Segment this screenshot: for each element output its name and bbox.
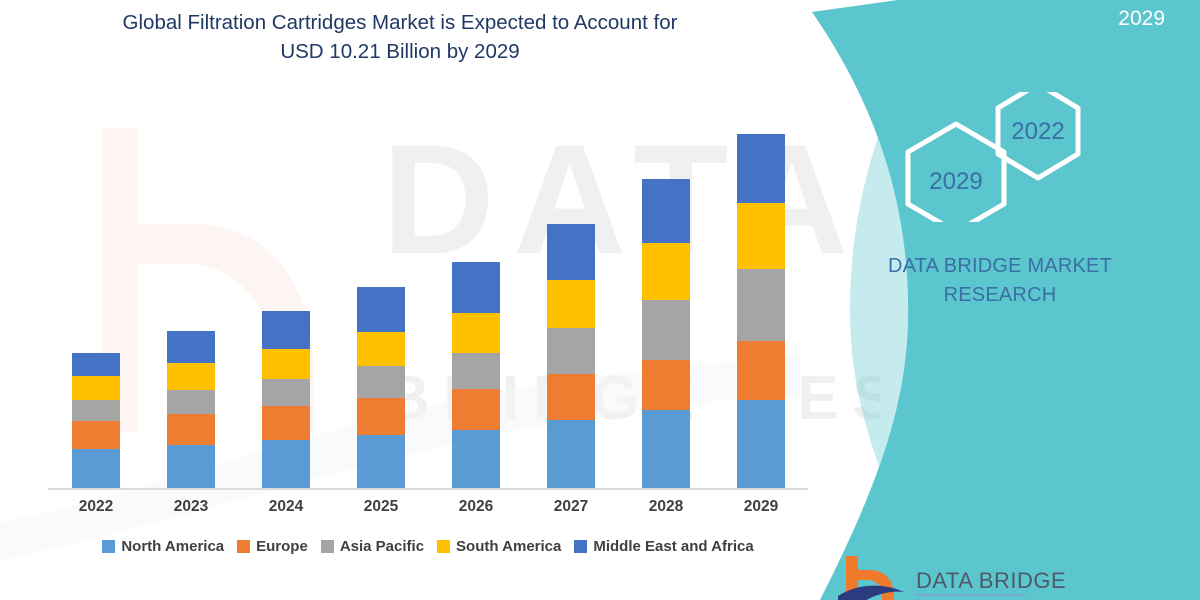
plot-area <box>48 100 808 490</box>
bar-segment <box>547 280 595 328</box>
x-axis-label-2028: 2028 <box>636 498 696 516</box>
bar-segment <box>262 349 310 380</box>
infographic-canvas: DATA BRIDGE RESEARCH Global Filtration C… <box>0 0 1200 600</box>
bar-segment <box>167 331 215 363</box>
bar-segment <box>737 134 785 203</box>
bar-segment <box>167 363 215 390</box>
bar-2029 <box>737 134 785 488</box>
bar-segment <box>72 376 120 400</box>
bar-segment <box>262 406 310 440</box>
bar-2026 <box>452 262 500 488</box>
bar-2023 <box>167 331 215 488</box>
bar-2027 <box>547 224 595 488</box>
bar-2025 <box>357 287 405 488</box>
bar-segment <box>72 421 120 449</box>
bar-segment <box>642 360 690 410</box>
legend-swatch-icon <box>574 540 587 553</box>
side-panel: Market, By Regions, 2022 to 2029 2029 20… <box>790 0 1200 600</box>
bar-2024 <box>262 311 310 488</box>
side-panel-heading-line-2: 2029 <box>845 4 1165 34</box>
bar-segment <box>547 224 595 281</box>
x-axis-label-2024: 2024 <box>256 498 316 516</box>
bar-segment <box>72 400 120 420</box>
bar-segment <box>642 243 690 300</box>
hexagon-2022-label: 2022 <box>1011 118 1064 145</box>
bar-segment <box>167 445 215 488</box>
side-panel-content: Market, By Regions, 2022 to 2029 2029 20… <box>790 0 1200 600</box>
bar-2022 <box>72 353 120 488</box>
x-axis-label-2022: 2022 <box>66 498 126 516</box>
bar-segment <box>167 414 215 445</box>
page-title: Global Filtration Cartridges Market is E… <box>40 8 760 66</box>
legend-label: South America <box>456 538 561 555</box>
brand-line-1: DATA BRIDGE MARKET <box>850 252 1150 281</box>
bar-segment <box>72 353 120 376</box>
legend-item[interactable]: North America <box>102 538 224 555</box>
bar-segment <box>737 400 785 488</box>
legend-label: Middle East and Africa <box>593 538 753 555</box>
bar-segment <box>357 287 405 332</box>
bar-segment <box>547 374 595 419</box>
dbmr-logo: DATA BRIDGE MARKET RESEARCH <box>838 552 1098 600</box>
legend-swatch-icon <box>321 540 334 553</box>
legend-item[interactable]: Asia Pacific <box>321 538 424 555</box>
legend-label: Europe <box>256 538 308 555</box>
legend-item[interactable]: Middle East and Africa <box>574 538 753 555</box>
legend-swatch-icon <box>237 540 250 553</box>
chart-title-line-1: Global Filtration Cartridges Market is E… <box>40 8 760 37</box>
x-axis-label-2023: 2023 <box>161 498 221 516</box>
bar-segment <box>452 313 500 352</box>
bar-segment <box>452 353 500 389</box>
bar-segment <box>357 366 405 397</box>
legend-label: North America <box>121 538 224 555</box>
legend-item[interactable]: Europe <box>237 538 308 555</box>
legend-swatch-icon <box>102 540 115 553</box>
bar-segment <box>737 203 785 268</box>
x-axis-label-2025: 2025 <box>351 498 411 516</box>
chart-legend: North AmericaEuropeAsia PacificSouth Ame… <box>48 538 808 555</box>
hexagon-group: 2029 2022 <box>900 92 1130 222</box>
bar-segment <box>357 398 405 436</box>
bar-segment <box>357 332 405 367</box>
bar-segment <box>737 341 785 399</box>
bar-segment <box>642 300 690 360</box>
bar-segment <box>547 328 595 375</box>
x-axis-labels: 20222023202420252026202720282029 <box>48 498 808 522</box>
axis-baseline <box>48 488 808 490</box>
chart-panel: DATA BRIDGE RESEARCH Global Filtration C… <box>0 0 880 600</box>
bar-segment <box>547 420 595 488</box>
bar-segment <box>642 179 690 243</box>
x-axis-label-2027: 2027 <box>541 498 601 516</box>
brand-line-2: RESEARCH <box>850 281 1150 310</box>
x-axis-label-2029: 2029 <box>731 498 791 516</box>
bar-segment <box>642 410 690 488</box>
bar-segment <box>262 311 310 348</box>
bar-segment <box>737 269 785 342</box>
hexagon-2029-label: 2029 <box>929 168 982 195</box>
x-axis-label-2026: 2026 <box>446 498 506 516</box>
bar-segment <box>262 379 310 406</box>
bar-segment <box>452 262 500 313</box>
bar-segment <box>357 435 405 488</box>
side-panel-heading: Market, By Regions, 2022 to 2029 <box>845 0 1165 35</box>
chart-title-line-2: USD 10.21 Billion by 2029 <box>40 37 760 66</box>
brand-name: DATA BRIDGE MARKET RESEARCH <box>850 252 1150 310</box>
bar-2028 <box>642 179 690 488</box>
bar-segment <box>72 449 120 489</box>
bar-segment <box>452 430 500 488</box>
legend-item[interactable]: South America <box>437 538 561 555</box>
bar-segment <box>167 390 215 414</box>
bar-segment <box>452 389 500 430</box>
legend-swatch-icon <box>437 540 450 553</box>
legend-label: Asia Pacific <box>340 538 424 555</box>
bar-segment <box>262 440 310 488</box>
logo-text-line-1: DATA BRIDGE <box>916 568 1066 593</box>
